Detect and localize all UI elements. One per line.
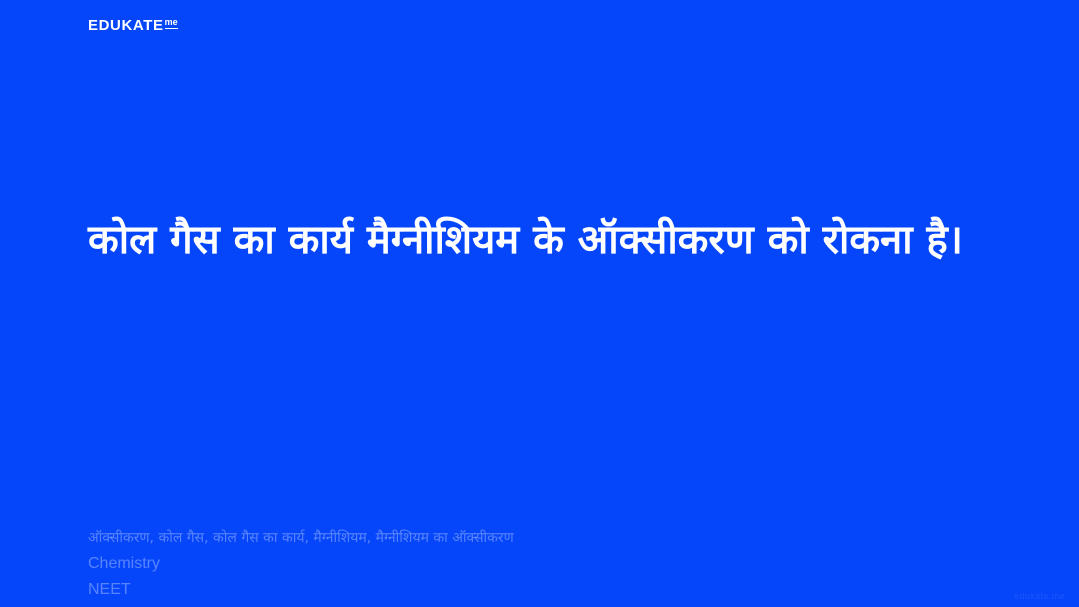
brand-name: EDUKATE [88,16,164,36]
subject-label: Chemistry [88,551,948,577]
tag-list: ऑक्सीकरण, कोल गैस, कोल गैस का कार्य, मैग… [88,525,948,551]
brand-suffix: me [165,17,178,29]
slide-meta: ऑक्सीकरण, कोल गैस, कोल गैस का कार्य, मैग… [88,525,948,603]
exam-label: NEET [88,577,948,603]
watermark-text: edukate.me [1014,591,1065,601]
page-title: कोल गैस का कार्य मैग्नीशियम के ऑक्सीकरण … [88,212,988,269]
slide-canvas: EDUKATE me कोल गैस का कार्य मैग्नीशियम क… [0,0,1079,607]
brand-logo[interactable]: EDUKATE me [88,16,178,36]
